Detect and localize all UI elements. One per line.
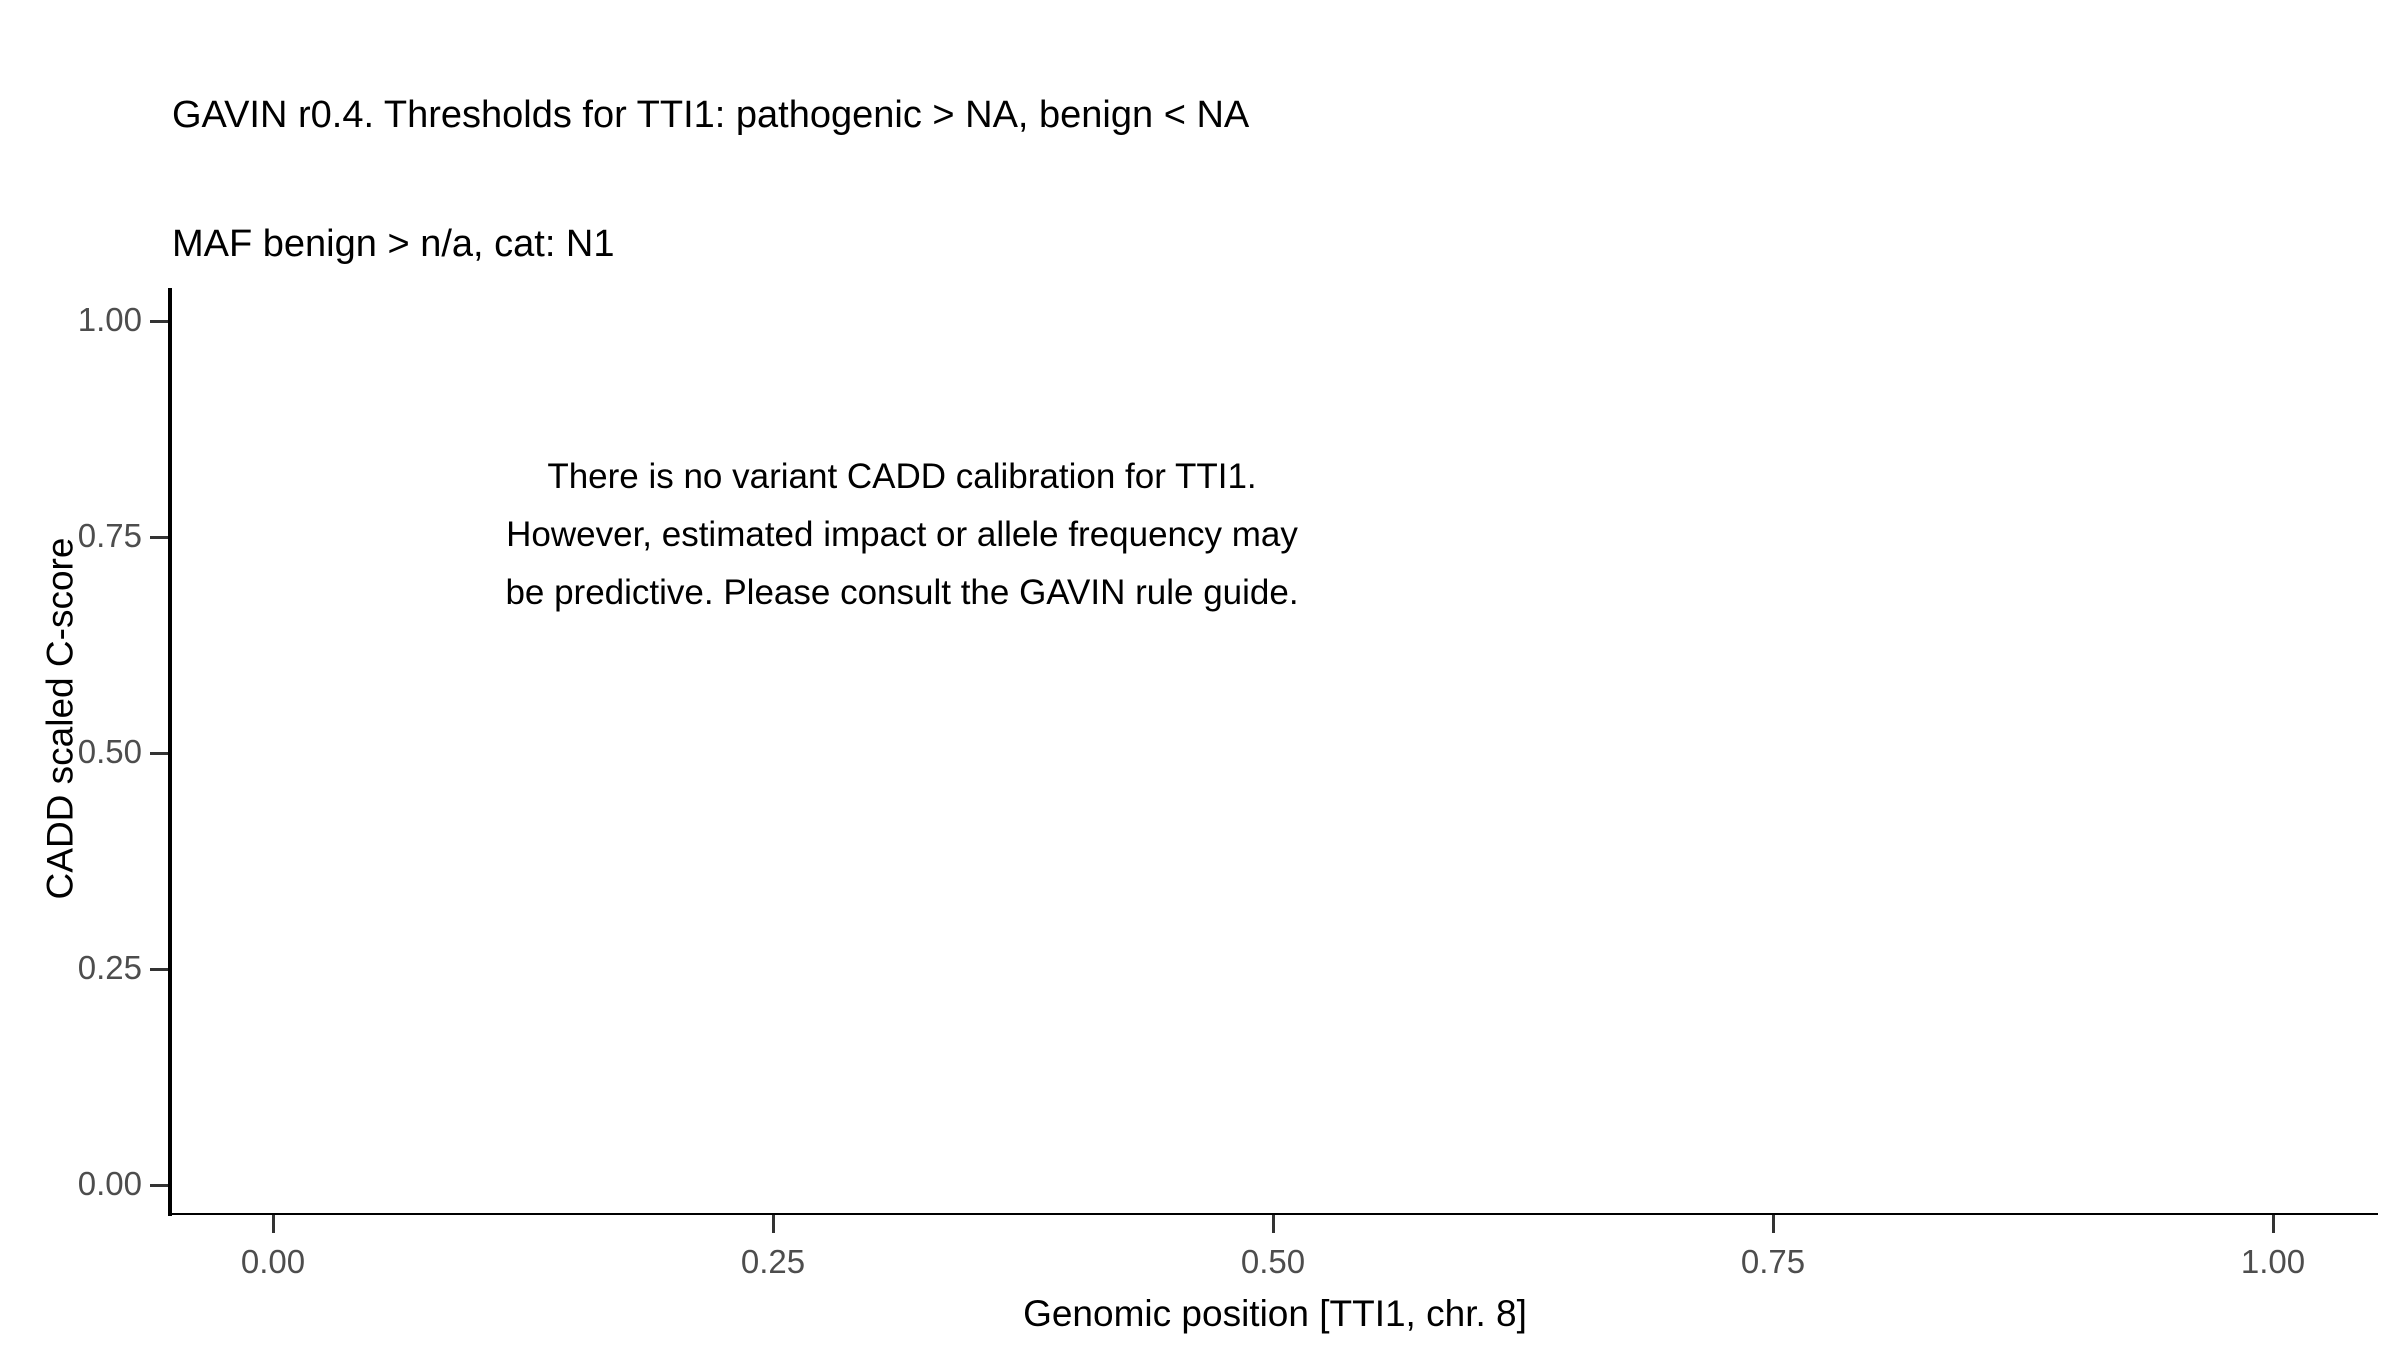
x-tick-mark-0.75 — [1772, 1215, 1775, 1233]
panel-annotation: There is no variant CADD calibration for… — [172, 290, 2378, 1213]
plot-title-line-2: MAF benign > n/a, cat: N1 — [172, 223, 2272, 266]
annotation-line-3: be predictive. Please consult the GAVIN … — [172, 573, 1632, 613]
x-axis-title: Genomic position [TTI1, chr. 8] — [172, 1295, 2378, 1332]
y-tick-mark-0.25 — [150, 968, 168, 971]
y-tick-mark-0.00 — [150, 1184, 168, 1187]
x-tick-label-1.00: 1.00 — [2173, 1245, 2373, 1278]
y-axis-title: CADD scaled C-score — [42, 339, 79, 1099]
x-tick-label-0.25: 0.25 — [673, 1245, 873, 1278]
y-tick-mark-0.75 — [150, 536, 168, 539]
plot-panel: There is no variant CADD calibration for… — [172, 290, 2378, 1213]
chart-canvas: GAVIN r0.4. Thresholds for TTI1: pathoge… — [0, 0, 2400, 1350]
y-tick-label-1.00: 1.00 — [22, 303, 142, 336]
x-tick-label-0.50: 0.50 — [1173, 1245, 1373, 1278]
x-tick-mark-1.00 — [2272, 1215, 2275, 1233]
annotation-line-2: However, estimated impact or allele freq… — [172, 515, 1632, 555]
x-tick-mark-0.50 — [1272, 1215, 1275, 1233]
y-tick-label-0.00: 0.00 — [22, 1167, 142, 1200]
y-tick-label-0.25: 0.25 — [22, 951, 142, 984]
x-tick-label-0.00: 0.00 — [173, 1245, 373, 1278]
y-tick-mark-1.00 — [150, 320, 168, 323]
y-tick-mark-0.50 — [150, 752, 168, 755]
x-tick-mark-0.25 — [772, 1215, 775, 1233]
annotation-line-1: There is no variant CADD calibration for… — [172, 457, 1632, 497]
x-tick-label-0.75: 0.75 — [1673, 1245, 1873, 1278]
plot-title-line-1: GAVIN r0.4. Thresholds for TTI1: pathoge… — [172, 94, 2272, 137]
x-tick-mark-0.00 — [272, 1215, 275, 1233]
